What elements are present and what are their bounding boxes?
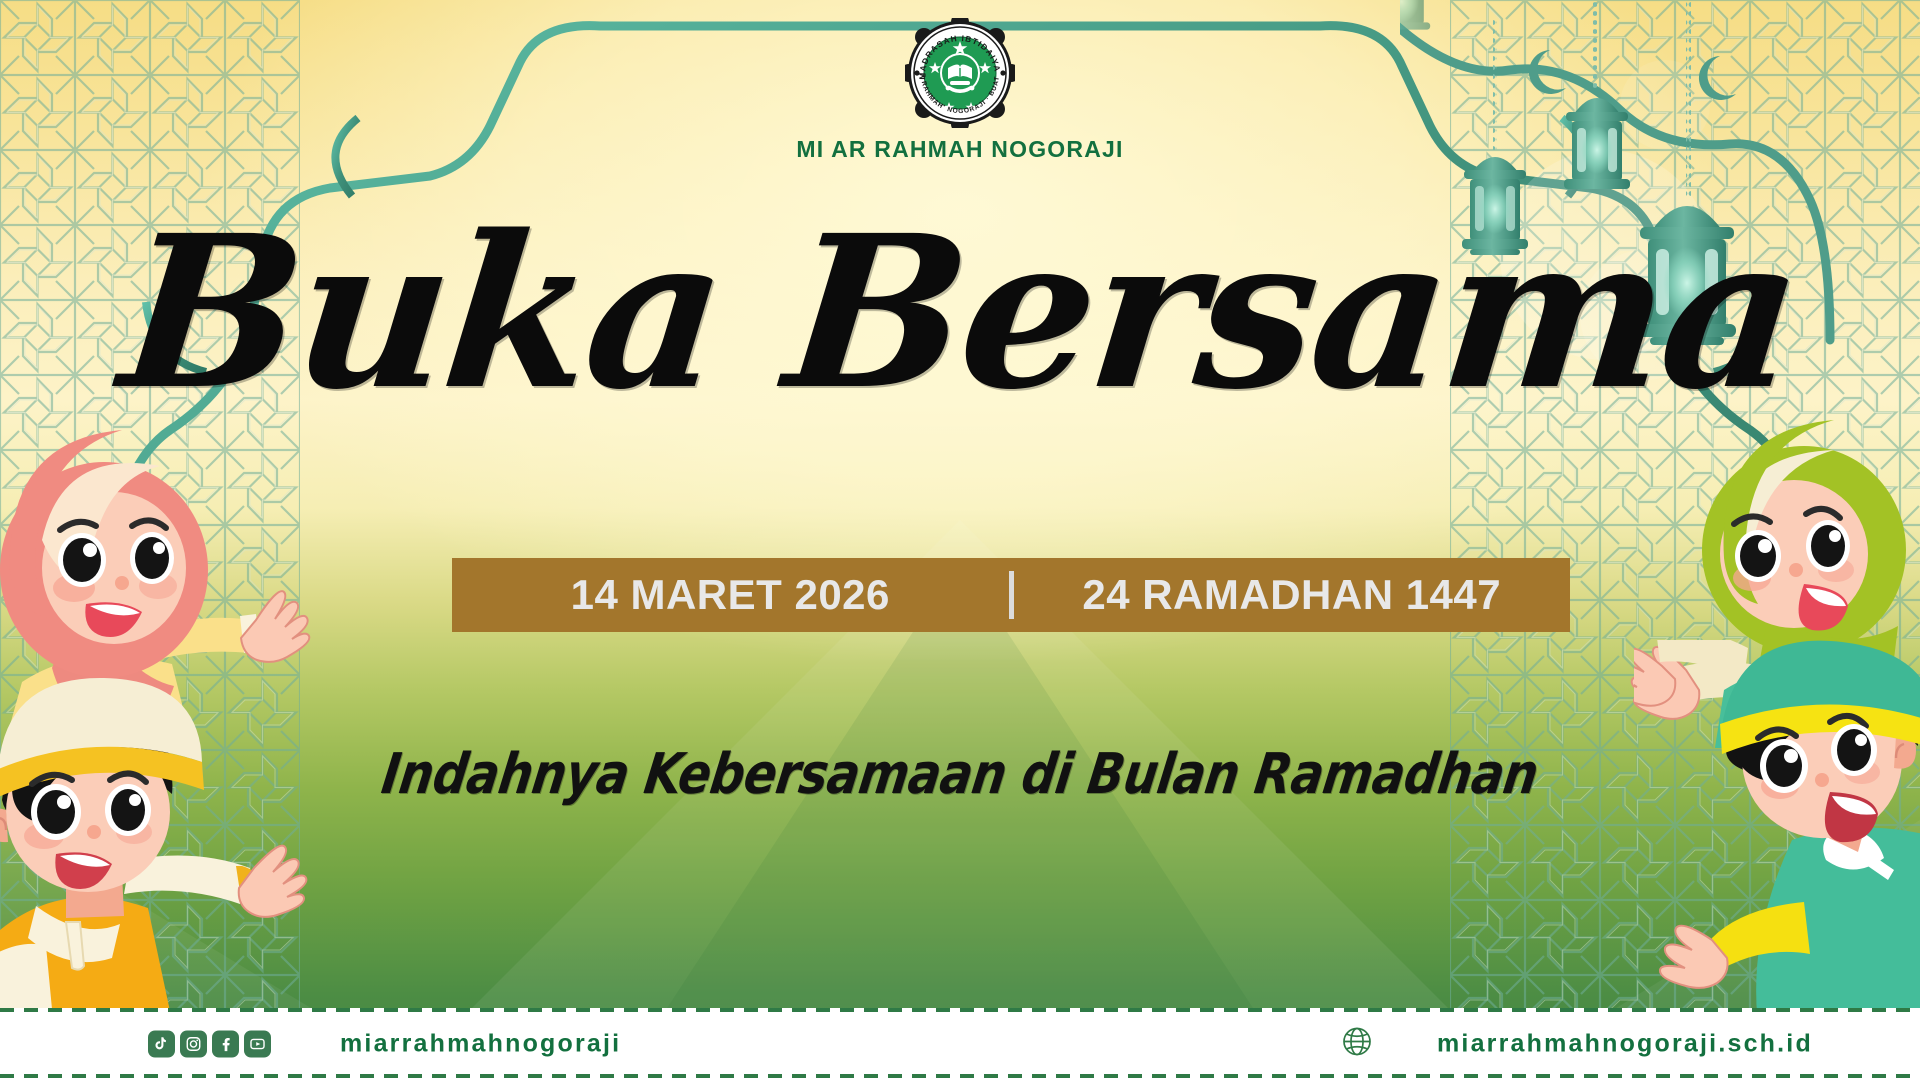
social-handle[interactable]: miarrahmahnogoraji [340,1030,621,1059]
banner-canvas: MADRASAH IBTIDAIYAH 'AR RAHMAH' NOGORAJI… [0,0,1920,1080]
event-title: Buka Bersama [0,208,1920,418]
event-tagline: Indahnya Kebersamaan di Bulan Ramadhan [43,742,1876,807]
instagram-icon[interactable] [180,1031,207,1058]
footer-divider-top [0,1008,1920,1012]
facebook-icon[interactable] [212,1031,239,1058]
school-crest-icon: MADRASAH IBTIDAIYAH 'AR RAHMAH' NOGORAJI… [905,18,1015,128]
footer-divider-bottom [0,1074,1920,1078]
social-icon-group [148,1031,271,1058]
tiktok-icon[interactable] [148,1031,175,1058]
gregorian-date: 14 MARET 2026 [452,571,1009,619]
school-name: MI AR RAHMAH NOGORAJI [650,136,1270,163]
character-boy-teal-cap [1634,640,1920,1020]
footer-bar: miarrahmahnogoraji miarrahmahnogoraji.sc… [0,1008,1920,1080]
website-url[interactable]: miarrahmahnogoraji.sch.id [1437,1030,1813,1059]
date-bar: 14 MARET 2026 24 RAMADHAN 1447 [452,558,1570,632]
character-boy-white-kopiah [0,660,310,1030]
globe-icon [1340,1025,1374,1064]
youtube-icon[interactable] [244,1031,271,1058]
brand-block: MADRASAH IBTIDAIYAH 'AR RAHMAH' NOGORAJI… [650,18,1270,163]
hijri-date: 24 RAMADHAN 1447 [1014,571,1571,619]
